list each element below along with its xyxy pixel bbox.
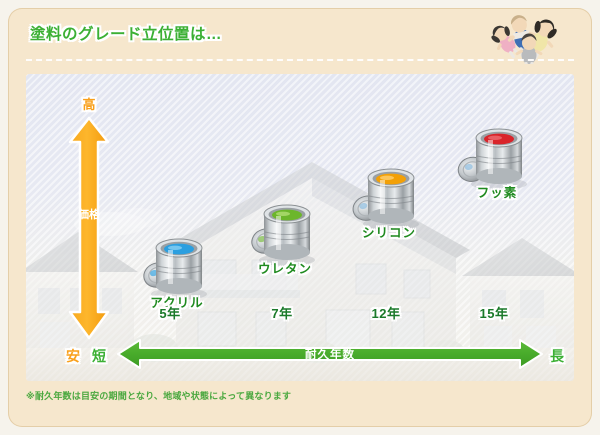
price-axis: 高 価格 [62,94,116,362]
content-card: 塗料のグレード立位置は… [8,8,592,427]
price-axis-label: 価格 [62,210,116,222]
durability-year-fluorine: 15年 [464,303,524,322]
durability-axis-label: 耐久年数 [114,346,546,362]
durability-year-silicone: 12年 [356,303,416,322]
footnote: ※耐久年数は目安の期間となり、地域や状態によって異なります [26,389,291,402]
paint-can-fluorine[interactable]: フッ素 [454,116,540,208]
durability-long-label: 長 [550,346,564,366]
paint-can-label: フッ素 [440,182,554,201]
paint-can-silicone[interactable]: シリコン [346,156,432,248]
infographic-screenshot: 塗料のグレード立位置は… [0,0,600,435]
paint-can-label: シリコン [332,222,446,241]
durability-axis: 耐久年数 [114,336,546,372]
header-divider [26,59,574,61]
price-high-label: 高 [62,94,116,113]
durability-short-label: 短 [92,346,106,366]
paint-can-urethane[interactable]: ウレタン [242,192,328,284]
chart-panel: 高 価格 [26,74,574,381]
header: 塗料のグレード立位置は… [8,8,592,60]
durability-year-urethane: 7年 [252,303,312,322]
page-title: 塗料のグレード立位置は… [30,22,222,44]
price-low-label: 安 [66,346,80,366]
family-illustration-icon [482,12,578,64]
paint-can-label: ウレタン [228,258,342,277]
price-axis-arrow-icon [62,94,116,362]
durability-year-acrylic: 5年 [140,303,200,322]
